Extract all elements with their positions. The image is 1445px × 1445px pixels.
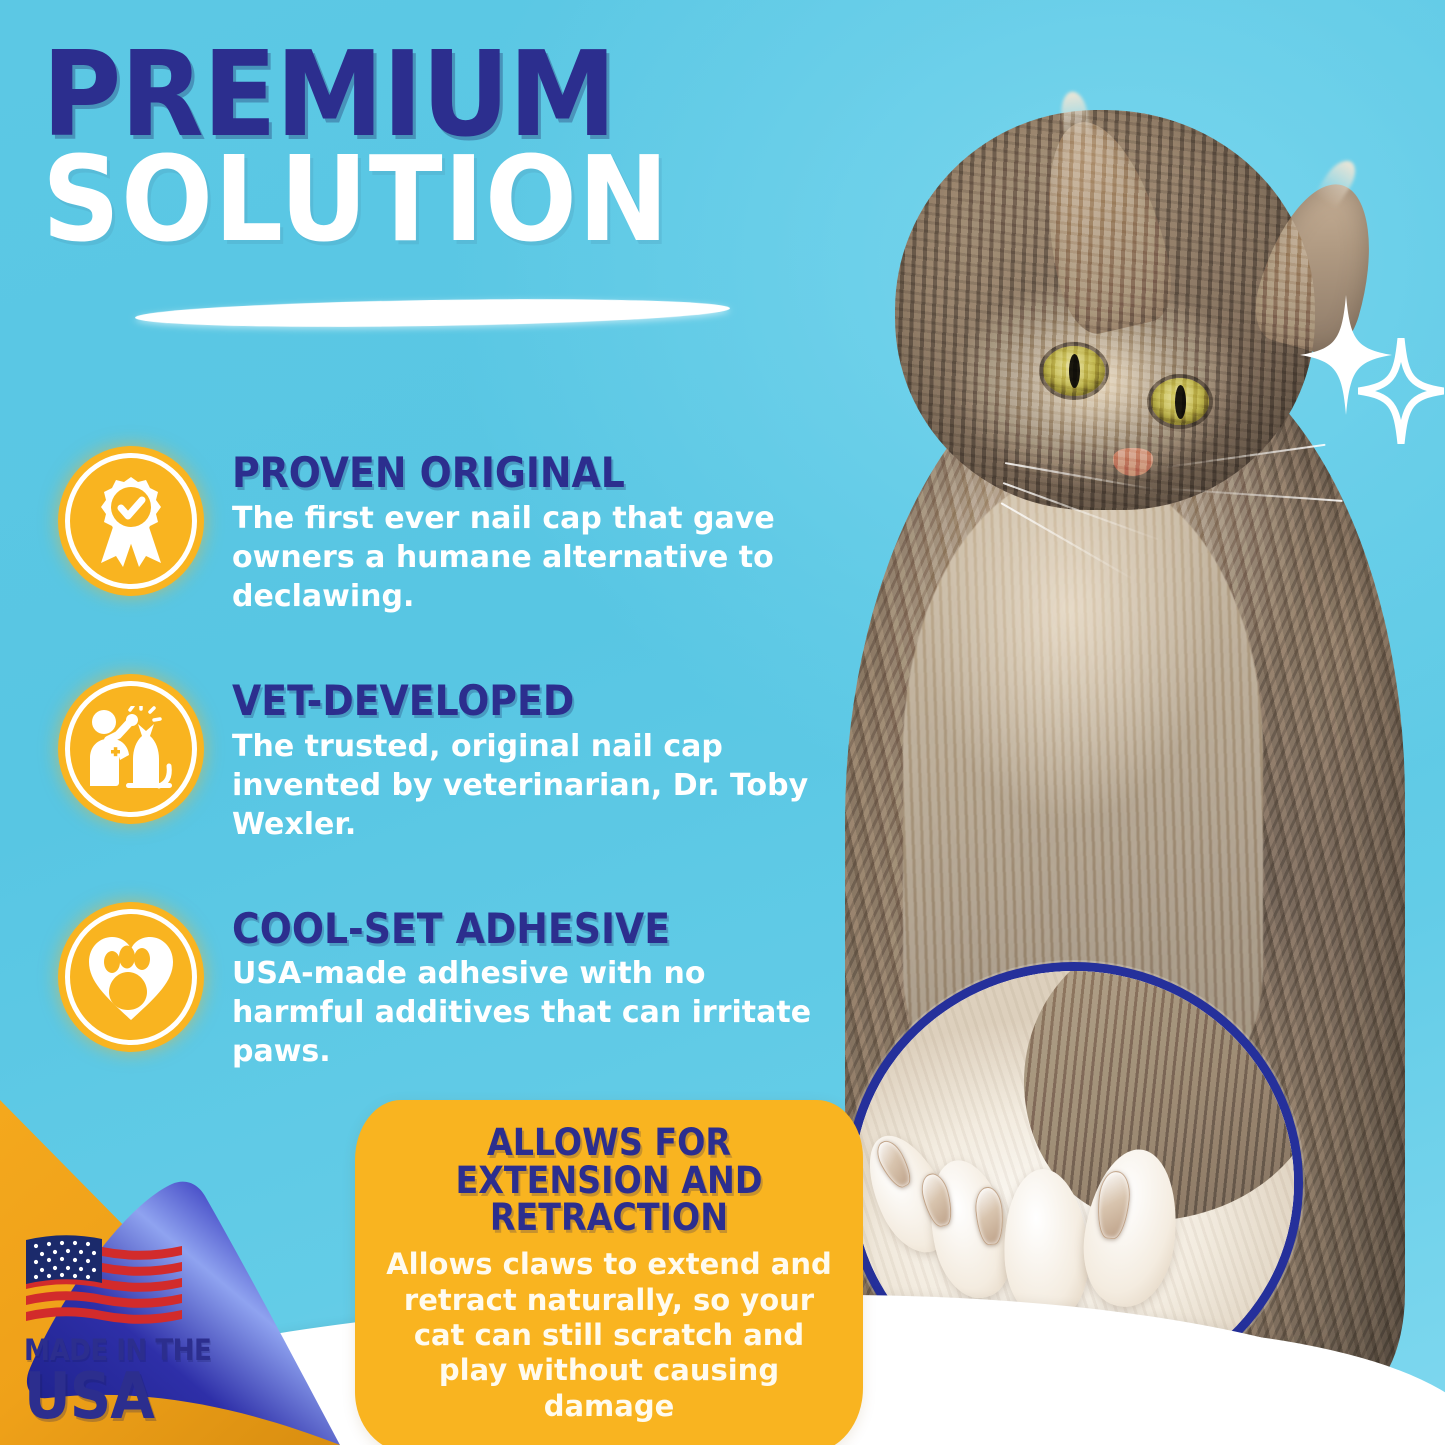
product-feature-poster: PREMIUM SOLUTION PROVEN ORIGINAL The fir… [0, 0, 1445, 1445]
feature-item: PROVEN ORIGINAL The first ever nail cap … [58, 446, 858, 616]
veterinarian-cat-highfive-icon [58, 674, 204, 824]
extension-retraction-callout: ALLOWS FOR EXTENSION AND RETRACTION Allo… [355, 1100, 863, 1445]
feature-list: PROVEN ORIGINAL The first ever nail cap … [58, 446, 858, 1129]
heart-paw-print-icon [58, 902, 204, 1052]
headline-block: PREMIUM SOLUTION [42, 44, 842, 251]
award-ribbon-check-icon [58, 446, 204, 596]
callout-title: ALLOWS FOR EXTENSION AND RETRACTION [381, 1124, 837, 1237]
feature-title: PROVEN ORIGINAL [232, 452, 812, 495]
sparkle-star-outline-icon [1358, 338, 1444, 444]
feature-description: USA-made adhesive with no harmful additi… [232, 954, 812, 1071]
feature-text: VET-DEVELOPED The trusted, original nail… [232, 674, 812, 844]
feature-item: COOL-SET ADHESIVE USA-made adhesive with… [58, 902, 858, 1072]
feature-title: VET-DEVELOPED [232, 680, 812, 723]
cat-nose [1113, 448, 1153, 476]
feature-item: VET-DEVELOPED The trusted, original nail… [58, 674, 858, 844]
feature-description: The first ever nail cap that gave owners… [232, 499, 812, 616]
headline-line-solution: SOLUTION [42, 149, 858, 250]
cat-head [895, 110, 1315, 510]
usa-label: USA [24, 1367, 234, 1427]
feature-text: PROVEN ORIGINAL The first ever nail cap … [232, 446, 812, 616]
feature-title: COOL-SET ADHESIVE [232, 908, 812, 951]
cat-eye-right [1151, 378, 1209, 425]
cat-ear-left [1025, 110, 1181, 340]
callout-body: Allows claws to extend and retract natur… [381, 1247, 837, 1424]
made-in-usa-badge: MADE IN THE USA [24, 1230, 234, 1427]
cat-eye-left [1043, 346, 1105, 396]
usa-flag-icon [24, 1230, 184, 1326]
feature-text: COOL-SET ADHESIVE USA-made adhesive with… [232, 902, 812, 1072]
feature-description: The trusted, original nail cap invented … [232, 727, 812, 844]
